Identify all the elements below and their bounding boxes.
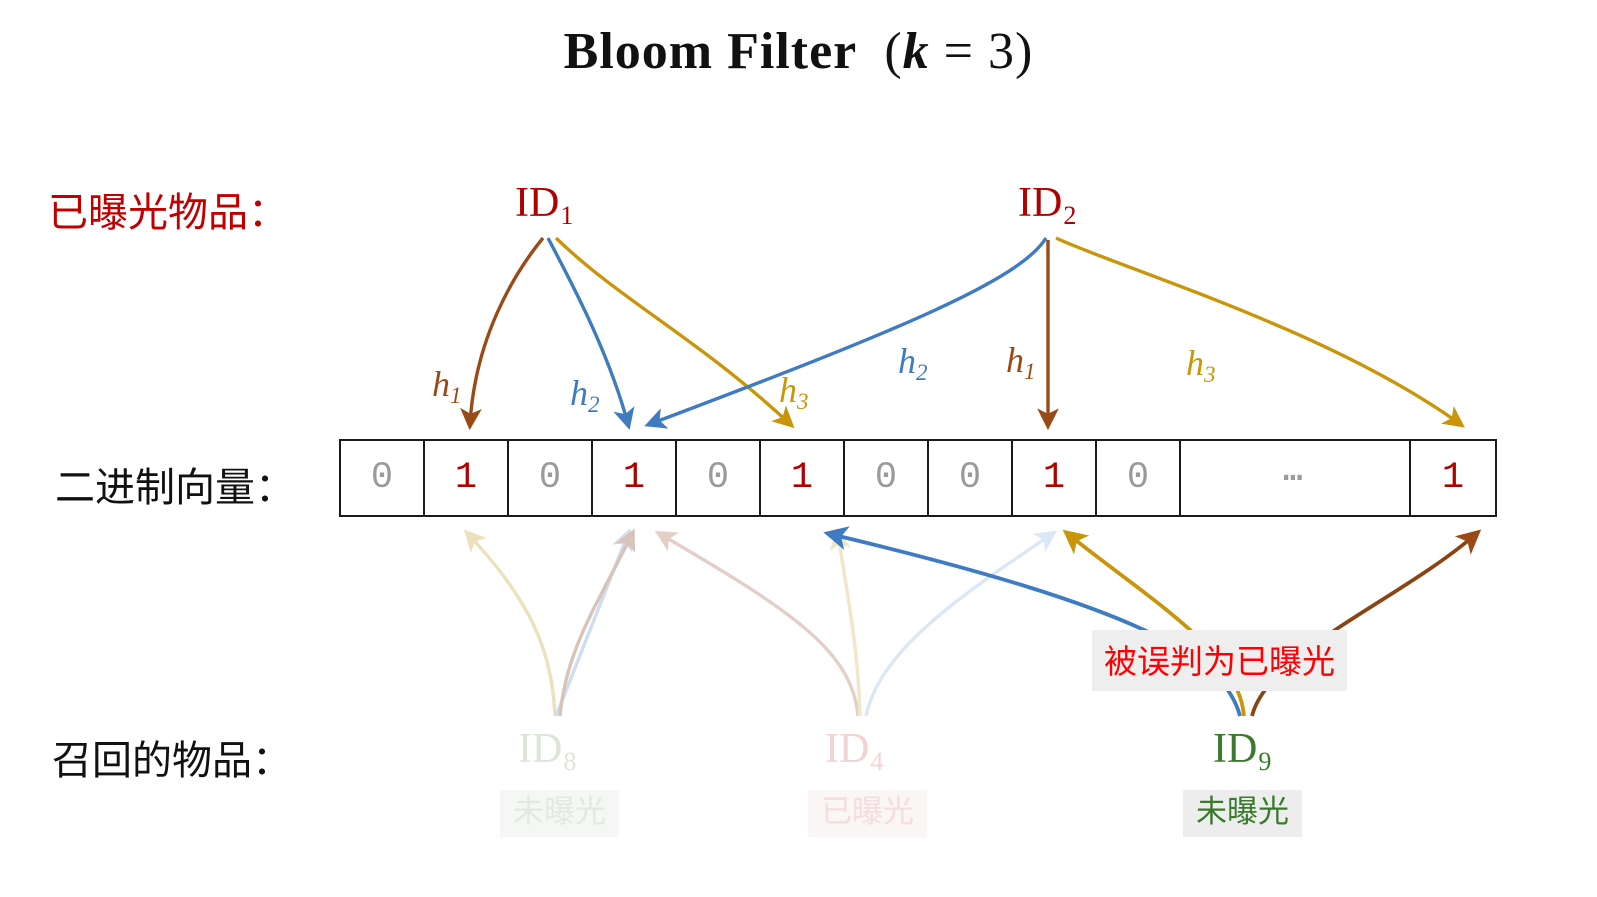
probe-arrow-id8-1 bbox=[468, 534, 555, 716]
bit-cell: 0 bbox=[929, 441, 1013, 515]
title-main: Bloom Filter bbox=[564, 23, 857, 80]
hash-label-id2-h2-name: h bbox=[898, 341, 916, 381]
hash-label-id2-h1-sub: 1 bbox=[1024, 359, 1036, 384]
hash-label-id1-h1: h1 bbox=[432, 366, 462, 402]
false-positive-note: 被误判为已曝光 bbox=[1092, 630, 1347, 691]
recalled-id-4: ID4 bbox=[825, 728, 882, 770]
page-title: Bloom Filter (k = 3) bbox=[0, 22, 1597, 81]
recalled-id-9-sub: 9 bbox=[1258, 747, 1271, 776]
title-param-value: 3 bbox=[988, 23, 1015, 80]
hash-label-id2-h1-name: h bbox=[1006, 340, 1024, 380]
exposed-id-1-sub: 1 bbox=[560, 201, 573, 230]
recalled-id-4-sub: 4 bbox=[870, 747, 883, 776]
exposed-id-2: ID2 bbox=[1018, 182, 1075, 224]
bit-cell: 0 bbox=[341, 441, 425, 515]
hash-label-id2-h2-sub: 2 bbox=[916, 360, 928, 385]
hash-label-id2-h2: h2 bbox=[898, 343, 928, 379]
hash-label-id2-h3-name: h bbox=[1186, 343, 1204, 383]
bit-cell: 1 bbox=[1411, 441, 1495, 515]
title-paren-close: ) bbox=[1015, 23, 1033, 80]
title-paren-open: ( bbox=[884, 23, 902, 80]
status-badge-id8: 未曝光 bbox=[500, 790, 619, 837]
hash-label-id2-h3-sub: 3 bbox=[1204, 362, 1216, 387]
hash-label-id1-h3-name: h bbox=[779, 370, 797, 410]
binary-vector: 0101010010⋯1 bbox=[339, 439, 1497, 517]
hash-label-id1-h2-name: h bbox=[570, 373, 588, 413]
bit-cell: 0 bbox=[677, 441, 761, 515]
hash-arrow-id2-h3 bbox=[1056, 238, 1460, 424]
hash-arrow-id1-h1 bbox=[470, 238, 543, 424]
title-param-eq: = bbox=[930, 23, 988, 80]
exposed-id-2-name: ID bbox=[1018, 180, 1062, 226]
recalled-id-9-name: ID bbox=[1213, 726, 1257, 772]
bit-cell: 0 bbox=[845, 441, 929, 515]
bit-cell-ellipsis: ⋯ bbox=[1181, 441, 1411, 515]
status-badge-id4: 已曝光 bbox=[808, 790, 927, 837]
binary-vector-label: 二进制向量： bbox=[55, 455, 295, 513]
probe-arrow-id8-3 bbox=[560, 534, 632, 716]
title-param-var: k bbox=[903, 23, 930, 80]
status-badge-id9: 未曝光 bbox=[1183, 790, 1302, 837]
probe-arrow-id8-2 bbox=[556, 534, 628, 716]
hash-label-id1-h2-sub: 2 bbox=[588, 392, 600, 417]
exposed-id-1-name: ID bbox=[515, 180, 559, 226]
hash-label-id1-h1-name: h bbox=[432, 364, 450, 404]
bit-cell: 0 bbox=[509, 441, 593, 515]
hash-label-id2-h3: h3 bbox=[1186, 345, 1216, 381]
exposed-items-label: 已曝光物品： bbox=[48, 180, 288, 238]
probe-arrow-id4-3 bbox=[866, 534, 1052, 716]
hash-label-id1-h3: h3 bbox=[779, 372, 809, 408]
hash-arrow-id2-h2 bbox=[650, 238, 1046, 424]
recalled-id-9: ID9 bbox=[1213, 728, 1270, 770]
recalled-id-8-name: ID bbox=[518, 726, 562, 772]
bit-cell: 1 bbox=[425, 441, 509, 515]
bit-cell: 1 bbox=[1013, 441, 1097, 515]
recalled-id-4-name: ID bbox=[825, 726, 869, 772]
probe-arrow-id4-2 bbox=[838, 534, 860, 716]
bit-cell: 1 bbox=[593, 441, 677, 515]
bit-cell: 1 bbox=[761, 441, 845, 515]
hash-label-id2-h1: h1 bbox=[1006, 342, 1036, 378]
recalled-items-label: 召回的物品： bbox=[52, 728, 292, 786]
bit-cell: 0 bbox=[1097, 441, 1181, 515]
probe-arrow-id4-1 bbox=[660, 534, 858, 716]
hash-label-id1-h2: h2 bbox=[570, 375, 600, 411]
exposed-id-1: ID1 bbox=[515, 182, 572, 224]
recalled-id-8: ID8 bbox=[518, 728, 575, 770]
recalled-id-8-sub: 8 bbox=[563, 747, 576, 776]
hash-label-id1-h1-sub: 1 bbox=[450, 383, 462, 408]
exposed-id-2-sub: 2 bbox=[1063, 201, 1076, 230]
hash-label-id1-h3-sub: 3 bbox=[797, 389, 809, 414]
